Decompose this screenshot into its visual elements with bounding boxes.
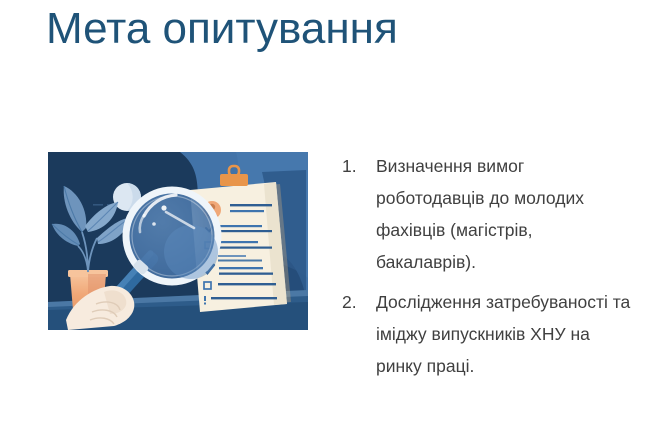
- list-item-number: 2.: [342, 286, 366, 318]
- goals-list: 1. Визначення вимог роботодавців до моло…: [336, 150, 636, 390]
- illustration-artwork: [48, 152, 308, 330]
- slide-canvas: Мета опитування: [0, 0, 660, 436]
- list-item-label: Визначення вимог роботодавців до молодих…: [376, 150, 636, 278]
- list-item: 2. Дослідження затребуваності та іміджу …: [336, 286, 636, 382]
- page-title: Мета опитування: [46, 2, 398, 56]
- magnifying-glass-clipboard-illustration: [48, 152, 308, 330]
- list-item: 1. Визначення вимог роботодавців до моло…: [336, 150, 636, 278]
- list-item-label: Дослідження затребуваності та іміджу вип…: [376, 286, 636, 382]
- list-item-number: 1.: [342, 150, 366, 182]
